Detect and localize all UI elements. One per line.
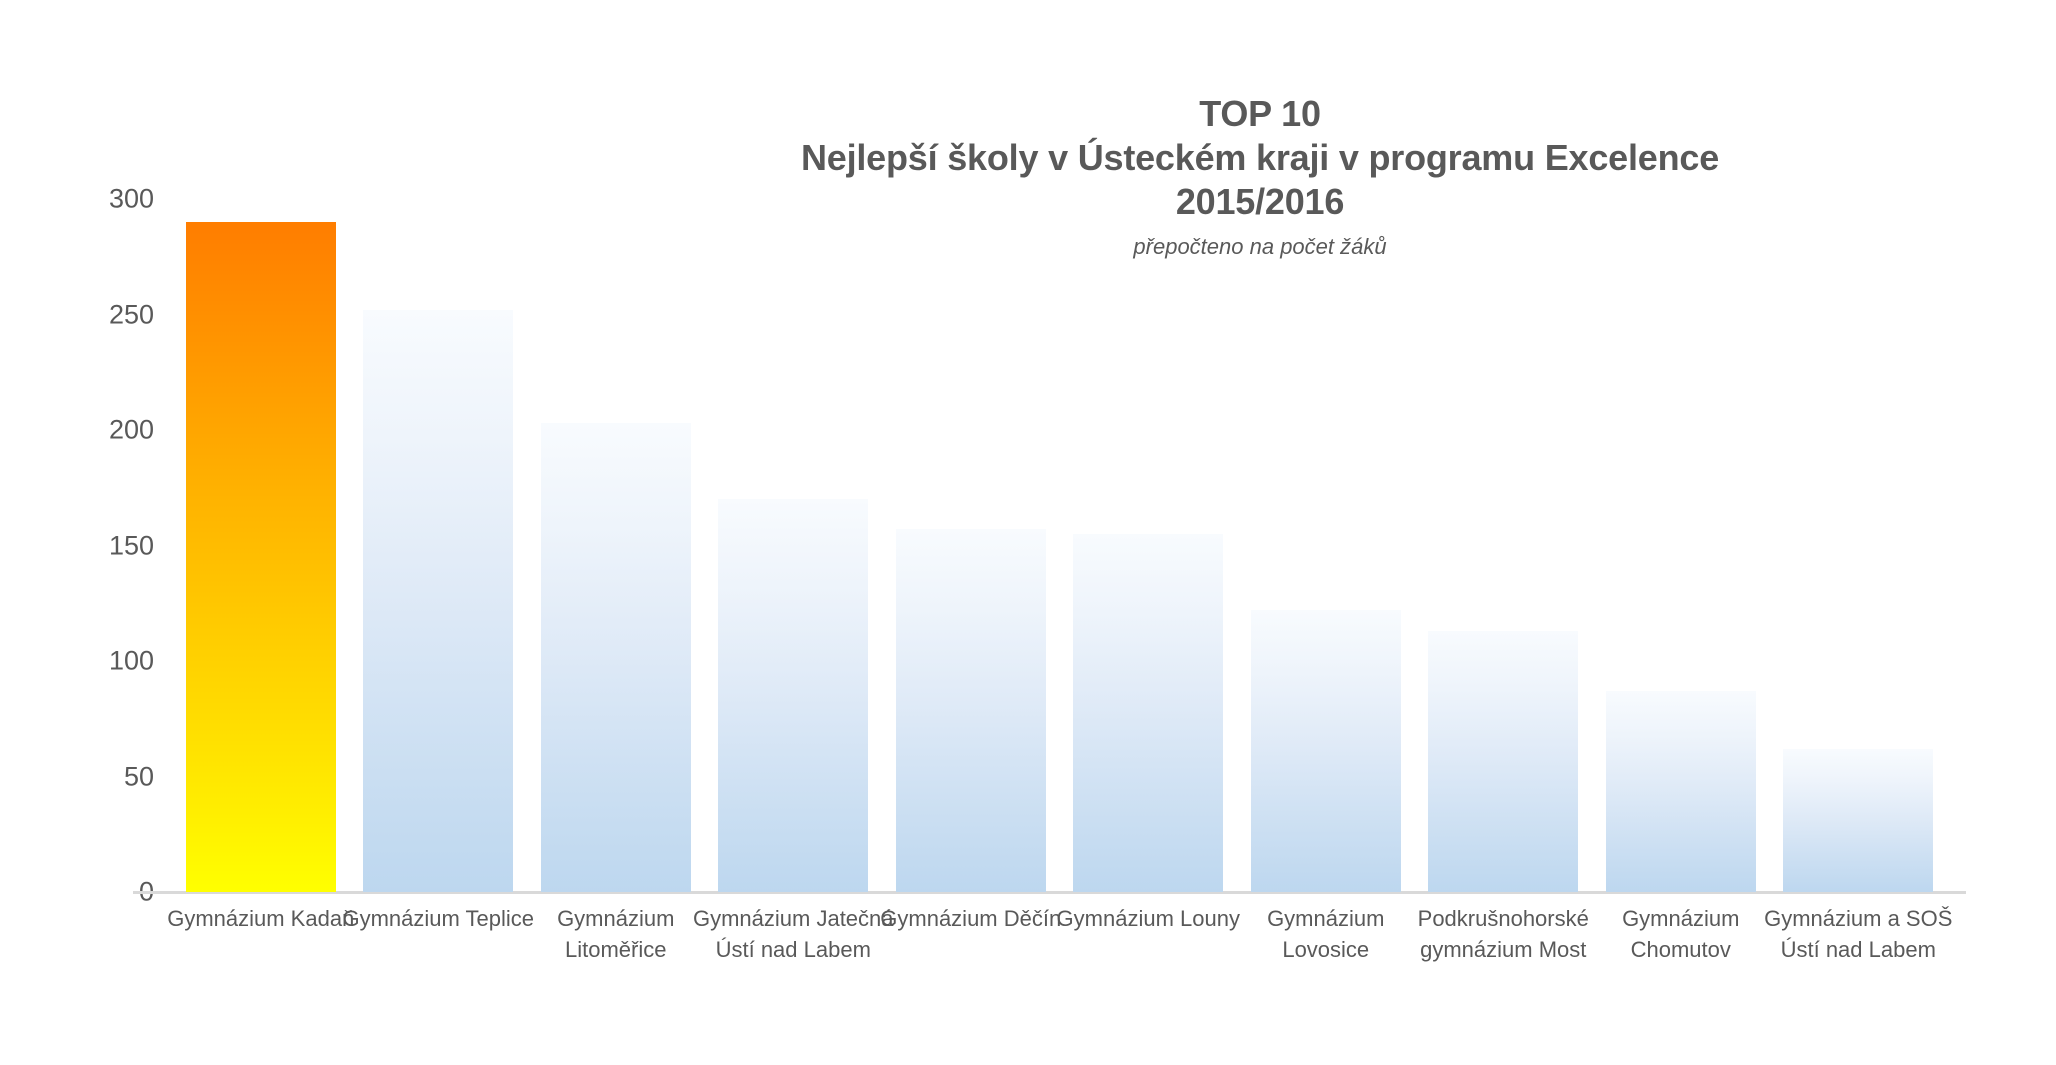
bar[interactable] [1783,749,1933,892]
x-axis-category-line: Ústí nad Labem [687,934,900,965]
x-axis-category-line: Ústí nad Labem [1752,934,1965,965]
x-axis-category-label: Gymnázium a SOŠÚstí nad Labem [1752,903,1965,965]
bar[interactable] [363,310,513,892]
bar[interactable] [1073,534,1223,892]
bar[interactable] [1428,631,1578,892]
bar-highlighted[interactable] [186,222,336,892]
x-axis-labels: Gymnázium KadaňGymnázium TepliceGymnáziu… [0,903,2056,1013]
bar[interactable] [1251,610,1401,892]
bar[interactable] [896,529,1046,892]
bar[interactable] [1606,691,1756,892]
bar[interactable] [718,499,868,892]
bar[interactable] [541,423,691,892]
x-axis-category-line: Gymnázium a SOŠ [1752,903,1965,934]
chart-plot-area: 300250200150100500 Gymnázium KadaňGymnáz… [0,0,2056,1065]
